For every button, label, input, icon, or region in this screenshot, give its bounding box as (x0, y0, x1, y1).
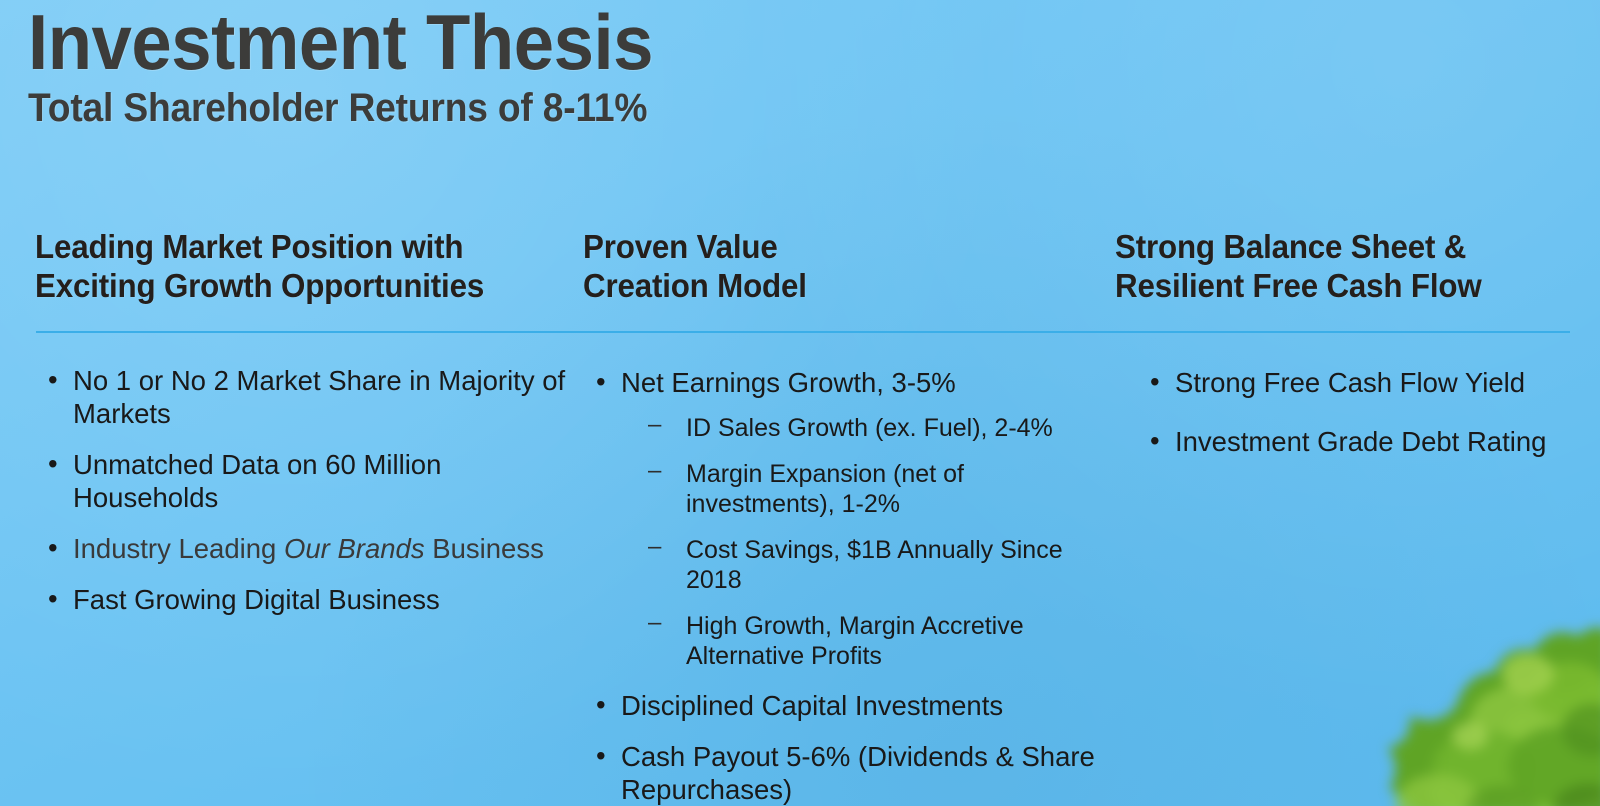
sub-list-item: – Cost Savings, $1B Annually Since 2018 (621, 535, 1113, 595)
dash-marker-icon: – (648, 411, 661, 440)
list-item-text: Disciplined Capital Investments (621, 690, 1003, 721)
sub-list-item: – ID Sales Growth (ex. Fuel), 2-4% (621, 413, 1113, 443)
slide-canvas: Investment Thesis Total Shareholder Retu… (0, 0, 1600, 806)
list-item-text: No 1 or No 2 Market Share in Majority of… (73, 365, 565, 429)
list-item: • No 1 or No 2 Market Share in Majority … (35, 364, 575, 430)
bullet-marker-icon: • (48, 363, 58, 396)
list-item: • Disciplined Capital Investments (583, 689, 1113, 722)
list-item-text: Investment Grade Debt Rating (1175, 426, 1546, 457)
list-item: • Cash Payout 5-6% (Dividends & Share Re… (583, 740, 1113, 806)
list-item-text: Industry Leading Our Brands Business (73, 533, 544, 564)
bullet-marker-icon: • (48, 531, 58, 564)
bullet-list-3: • Strong Free Cash Flow Yield • Investme… (1137, 366, 1600, 484)
dash-marker-icon: – (648, 457, 661, 486)
bullet-marker-icon: • (48, 582, 58, 615)
page-subtitle: Total Shareholder Returns of 8-11% (28, 88, 653, 128)
bullet-list-2: • Net Earnings Growth, 3-5% – ID Sales G… (583, 366, 1113, 806)
title-block: Investment Thesis Total Shareholder Retu… (28, 4, 700, 128)
list-item: • Strong Free Cash Flow Yield (1137, 366, 1600, 399)
column-heading-1: Leading Market Position with Exciting Gr… (35, 228, 548, 306)
list-item: • Investment Grade Debt Rating (1137, 425, 1600, 458)
emphasis-text: Our Brands (284, 533, 425, 564)
dash-marker-icon: – (648, 533, 661, 562)
list-item-text: Cash Payout 5-6% (Dividends & Share Repu… (621, 741, 1095, 805)
bullet-marker-icon: • (1150, 365, 1160, 398)
list-item: • Industry Leading Our Brands Business (35, 532, 575, 565)
column-proven-value-creation-model: Proven Value Creation Model • Net Earnin… (583, 228, 1113, 306)
dash-marker-icon: – (648, 609, 661, 638)
list-item-text: Fast Growing Digital Business (73, 584, 440, 615)
plain-text: Industry Leading (73, 533, 284, 564)
bullet-marker-icon: • (596, 688, 606, 721)
list-item-text: Net Earnings Growth, 3-5% (621, 367, 956, 398)
list-item: • Net Earnings Growth, 3-5% – ID Sales G… (583, 366, 1113, 671)
foliage-decoration (1270, 516, 1600, 806)
list-item: • Unmatched Data on 60 Million Household… (35, 448, 575, 514)
bullet-marker-icon: • (596, 739, 606, 772)
bullet-list-1: • No 1 or No 2 Market Share in Majority … (35, 364, 575, 634)
sub-bullet-list: – ID Sales Growth (ex. Fuel), 2-4% – Mar… (621, 413, 1113, 671)
sub-list-item-text: ID Sales Growth (ex. Fuel), 2-4% (686, 414, 1053, 442)
column-heading-3: Strong Balance Sheet & Resilient Free Ca… (1115, 228, 1562, 306)
header-divider (36, 331, 1570, 333)
bullet-marker-icon: • (1150, 424, 1160, 457)
column-leading-market-position: Leading Market Position with Exciting Gr… (35, 228, 575, 306)
list-item: • Fast Growing Digital Business (35, 583, 575, 616)
bullet-marker-icon: • (596, 365, 606, 398)
bullet-marker-icon: • (48, 447, 58, 480)
page-title: Investment Thesis (28, 4, 653, 80)
sub-list-item: – High Growth, Margin Accretive Alternat… (621, 611, 1113, 671)
column-strong-balance-sheet: Strong Balance Sheet & Resilient Free Ca… (1115, 228, 1585, 306)
sub-list-item-text: Cost Savings, $1B Annually Since 2018 (686, 536, 1063, 594)
tree-canopy-icon (1270, 516, 1600, 806)
list-item-text: Strong Free Cash Flow Yield (1175, 367, 1525, 398)
sub-list-item-text: High Growth, Margin Accretive Alternativ… (686, 612, 1024, 670)
sub-list-item: – Margin Expansion (net of investments),… (621, 459, 1113, 519)
column-heading-2: Proven Value Creation Model (583, 228, 1087, 306)
plain-text: Business (425, 533, 544, 564)
sub-list-item-text: Margin Expansion (net of investments), 1… (686, 460, 964, 518)
list-item-text: Unmatched Data on 60 Million Households (73, 449, 441, 513)
